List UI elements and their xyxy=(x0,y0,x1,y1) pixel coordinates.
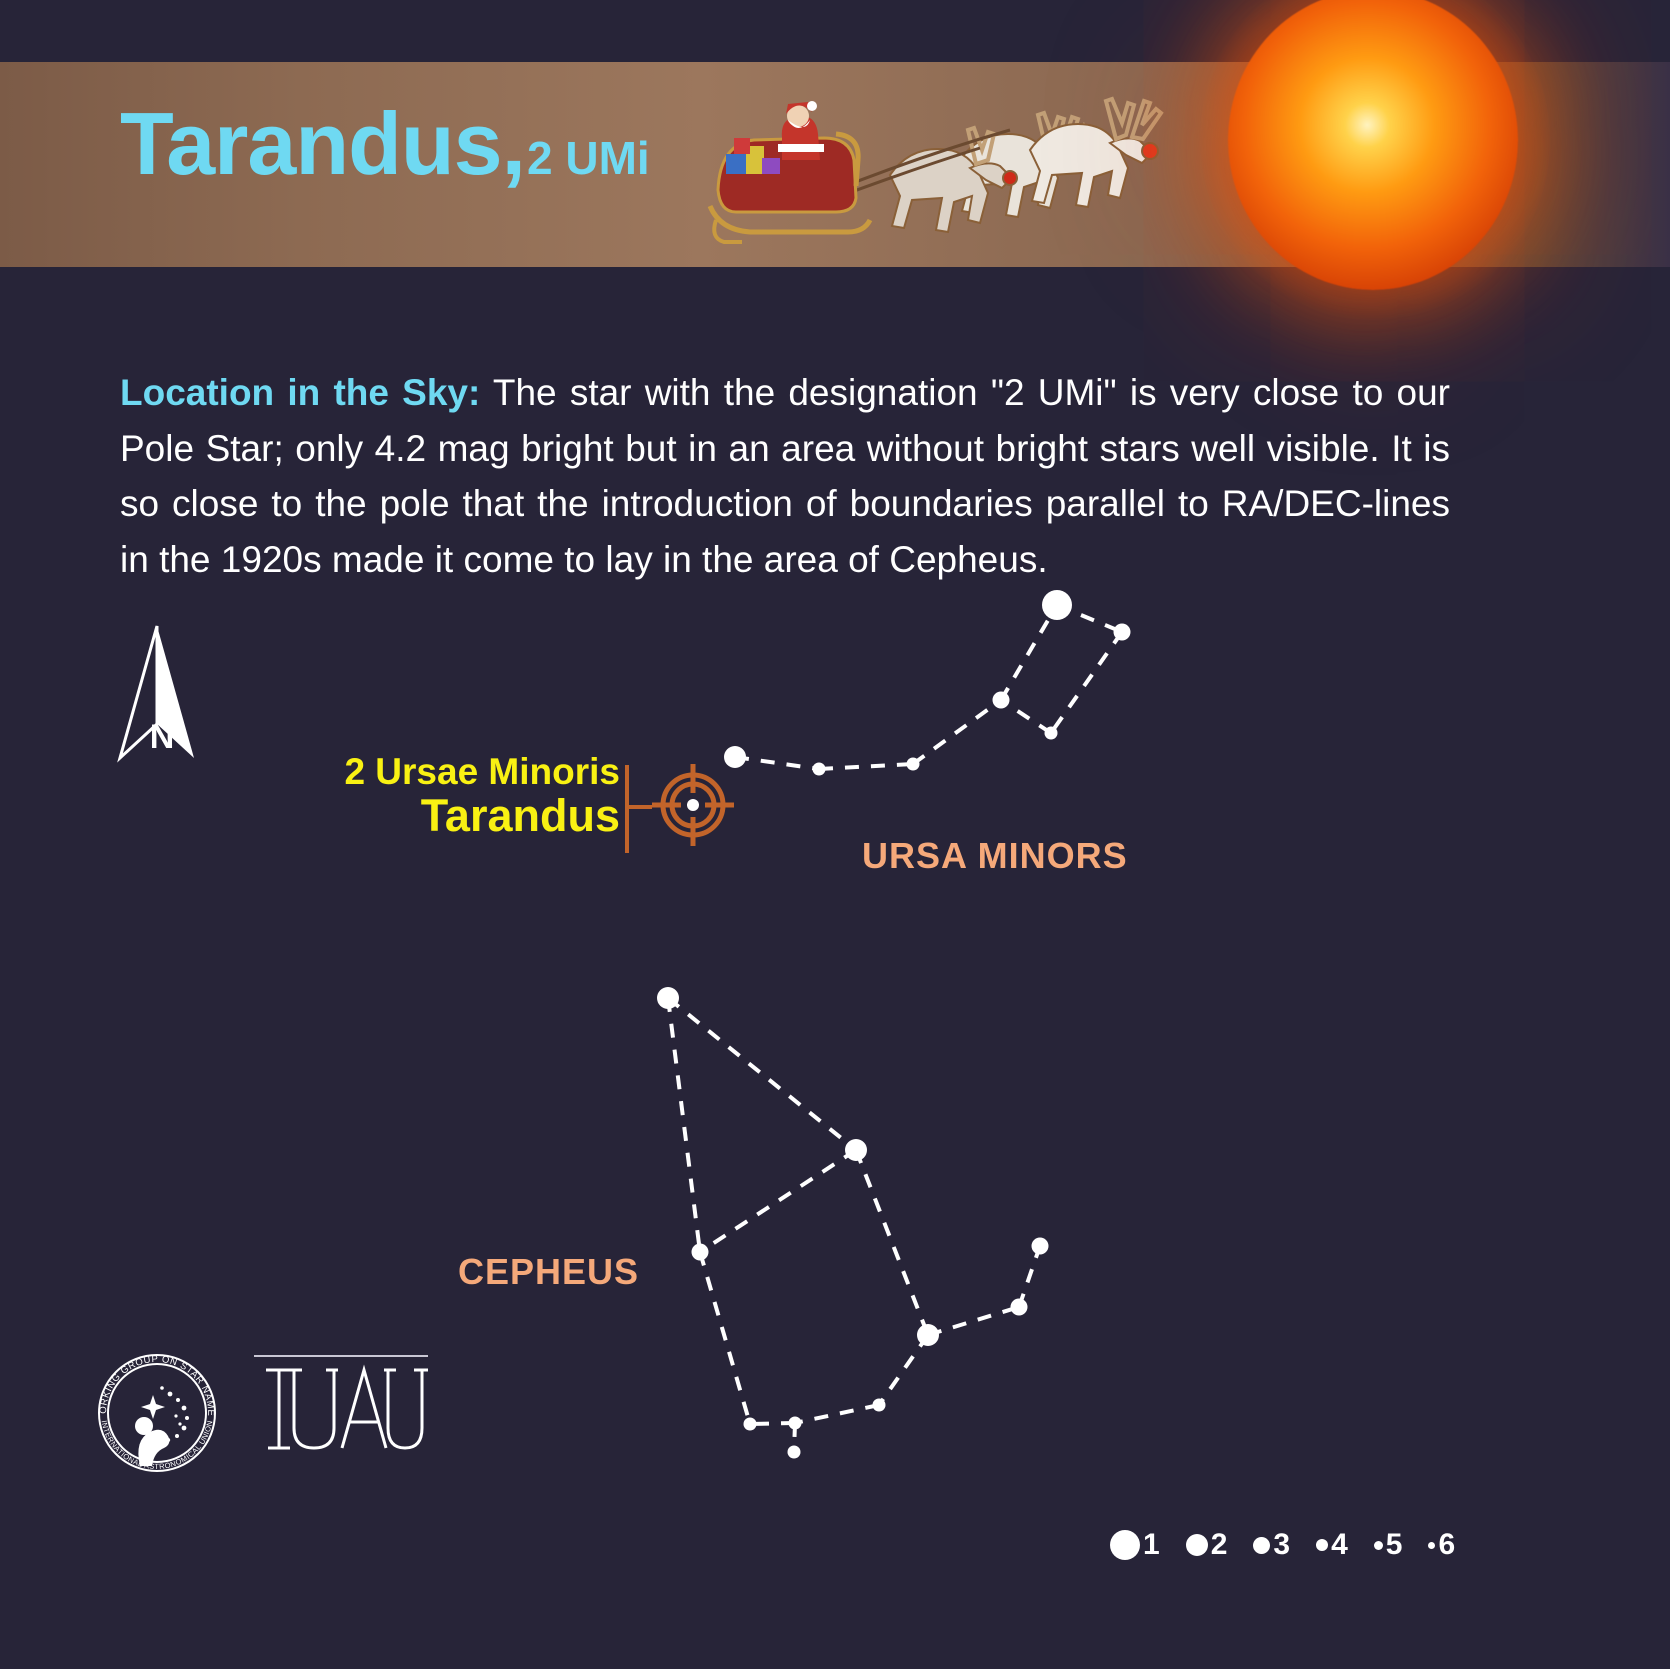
magnitude-legend-entry: 3 xyxy=(1253,1528,1290,1562)
magnitude-label: 5 xyxy=(1386,1528,1403,1562)
constellation-line xyxy=(819,764,913,769)
magnitude-legend-entry: 5 xyxy=(1374,1528,1403,1562)
constellation-line xyxy=(735,757,819,769)
star-point xyxy=(813,763,826,776)
magnitude-dot xyxy=(1110,1530,1140,1560)
magnitude-legend-entry: 4 xyxy=(1316,1528,1348,1562)
constellation-line xyxy=(1001,605,1057,700)
description-label: Location in the Sky: xyxy=(120,372,480,413)
star-point xyxy=(1032,1238,1049,1255)
page-title: Tarandus, 2 UMi xyxy=(120,100,650,188)
magnitude-label: 4 xyxy=(1331,1528,1348,1562)
star-point xyxy=(724,746,746,768)
constellation-line xyxy=(879,1335,928,1405)
star-bayer-designation: 2 Ursae Minoris xyxy=(300,752,620,792)
title-star-name: Tarandus, xyxy=(120,100,525,188)
star-point xyxy=(692,1244,709,1261)
star-point xyxy=(917,1324,939,1346)
constellation-line xyxy=(913,700,1001,764)
magnitude-dot xyxy=(1316,1539,1328,1551)
iau-logo: IAU xyxy=(246,1342,436,1482)
star-point xyxy=(907,758,920,771)
star-point xyxy=(993,692,1010,709)
constellation-line xyxy=(1051,632,1122,733)
santa-sleigh-reindeer-icon xyxy=(700,10,1260,280)
constellation-line xyxy=(856,1150,928,1335)
constellation-line xyxy=(1001,700,1051,733)
target-reticle-icon xyxy=(652,764,734,846)
magnitude-label: 6 xyxy=(1438,1528,1455,1562)
star-point xyxy=(1045,727,1058,740)
constellation-line xyxy=(700,1252,750,1424)
star-proper-name: Tarandus xyxy=(300,792,620,841)
magnitude-legend: 123456 xyxy=(1110,1528,1481,1562)
wgsn-logo: WORKING GROUP ON STAR NAMES INTERNATIONA… xyxy=(92,1348,222,1478)
constellation-line xyxy=(700,1150,856,1252)
magnitude-label: 2 xyxy=(1211,1528,1228,1562)
magnitude-dot xyxy=(1253,1537,1270,1554)
title-designation: 2 UMi xyxy=(527,135,650,181)
reticle-part xyxy=(687,799,699,811)
star-point xyxy=(1011,1299,1028,1316)
iau-wordmark-text: IAU xyxy=(341,1472,343,1475)
constellation-line xyxy=(668,998,700,1252)
star-point xyxy=(845,1139,867,1161)
star-point xyxy=(788,1446,801,1459)
magnitude-label: 1 xyxy=(1143,1528,1160,1562)
magnitude-legend-entry: 1 xyxy=(1110,1528,1160,1562)
magnitude-dot xyxy=(1428,1542,1435,1549)
highlighted-star-label: 2 Ursae Minoris Tarandus xyxy=(300,752,620,841)
description-paragraph: Location in the Sky: The star with the d… xyxy=(120,365,1450,587)
label-leader-line xyxy=(627,765,652,853)
magnitude-legend-entry: 6 xyxy=(1428,1528,1455,1562)
sky-chart xyxy=(0,560,1670,1669)
sun-star-icon xyxy=(1228,0,1518,290)
star-point xyxy=(657,987,679,1009)
constellation-line xyxy=(1019,1246,1040,1307)
constellation-line xyxy=(750,1423,795,1424)
header-banner: Tarandus, 2 UMi xyxy=(0,0,1670,280)
star-point xyxy=(789,1417,802,1430)
magnitude-label: 3 xyxy=(1273,1528,1290,1562)
star-point xyxy=(1042,590,1072,620)
constellation-line xyxy=(928,1307,1019,1335)
magnitude-legend-entry: 2 xyxy=(1186,1528,1228,1562)
magnitude-dot xyxy=(1186,1534,1208,1556)
constellation-line xyxy=(668,998,856,1150)
star-point xyxy=(873,1399,886,1412)
star-point xyxy=(1114,624,1131,641)
constellation-line xyxy=(795,1405,879,1423)
star-point xyxy=(744,1418,757,1431)
constellation-label-cepheus: CEPHEUS xyxy=(458,1251,639,1293)
constellation-label-ursa-minor: URSA MINORS xyxy=(862,835,1128,877)
magnitude-dot xyxy=(1374,1541,1383,1550)
